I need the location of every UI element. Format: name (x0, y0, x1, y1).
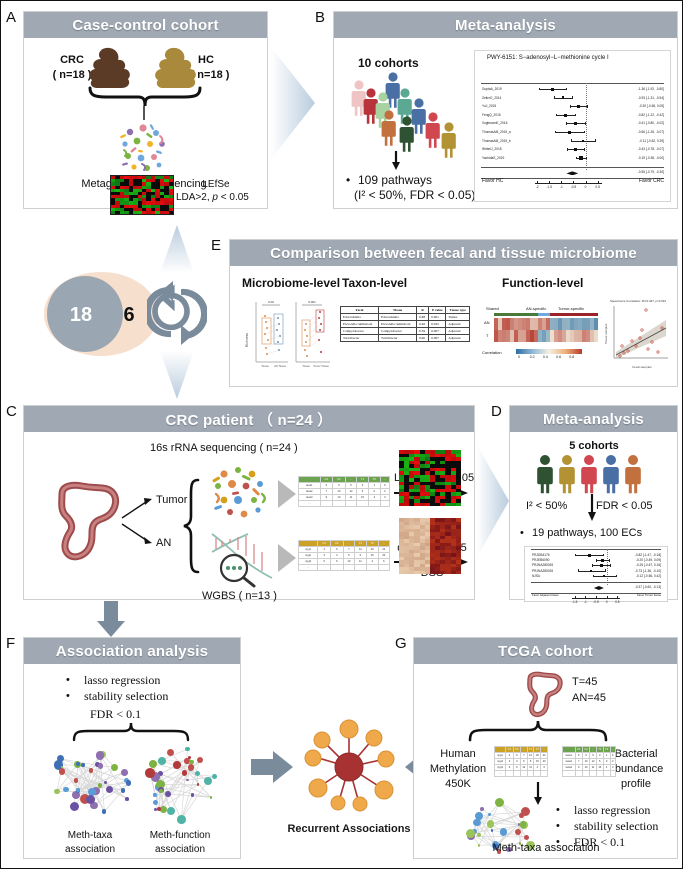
forest-study-label: PRJNA280026 (532, 569, 553, 573)
forest-tick (575, 596, 576, 598)
table-cell: Adjacent (446, 335, 470, 342)
forest-ci-label: -0.19 [-0.38, -0.00] (638, 156, 664, 160)
hm-row-label-t: T (486, 333, 488, 338)
forest-favor-left: Favor Adjacent tissue (532, 593, 559, 597)
forest-study-label: ThomasAM_2019_b (482, 139, 511, 143)
network-node (59, 768, 65, 774)
table-header: R (417, 307, 429, 314)
network-node (158, 757, 166, 765)
network-node (153, 800, 158, 805)
forest-ci-cap (570, 105, 571, 108)
table-row-empty: … (495, 771, 548, 777)
network-node (70, 802, 79, 811)
table-cell: Turicibacter (341, 335, 379, 342)
table-row: CampylobacterCampylobacter0.390.007Adjac… (341, 328, 470, 335)
network-node (125, 797, 129, 801)
forest-ci-cap (592, 564, 593, 567)
panel-c-title: CRC patient （ n=24 ） (24, 406, 474, 432)
forest-plot-b: PWY-6151: S−adenosyl−L−methionine cycle … (474, 50, 671, 202)
meth-function-network (138, 742, 224, 824)
wgbs-branch-label: WGBS ( n=13 ) (202, 590, 277, 602)
lefse-heatmap-c (399, 450, 461, 506)
function-heatmap (494, 318, 598, 342)
table-cell: Edwardsiella (379, 314, 417, 321)
chevron-down-center (158, 349, 196, 401)
net1-caption-2: association (65, 844, 115, 855)
hm-legend-gradient (516, 349, 582, 354)
forest-ci-cap (585, 122, 586, 125)
forest-point-estimate (579, 156, 583, 160)
function-heatmap-group: Shared AN-specific Tumor-specific AN T C… (482, 306, 600, 368)
stability-selection-g: stability selection (574, 819, 658, 834)
arrow-right-to-hub (251, 751, 293, 783)
panel-label-a: A (6, 9, 16, 26)
forest-ci-cap (575, 114, 576, 117)
table-header: Tissue (379, 307, 417, 314)
hm-legend-title: Correlation (482, 350, 502, 355)
table-cell (355, 565, 367, 571)
taxa-abundance-table: C1C2...T1T2...taxa1565316taxa271012502ta… (298, 476, 390, 507)
hm-bar-shared (494, 313, 538, 316)
tcga-caption: Meth-taxa association (493, 842, 600, 854)
table-cell: 0.007 (429, 328, 446, 335)
tcga-an-count: AN=45 (572, 692, 606, 704)
svg-text:AN Tissue: AN Tissue (274, 364, 286, 368)
table-cell: Tumor (446, 314, 470, 321)
panel-a-title: Case-control cohort (24, 12, 267, 38)
forest-ci-cap (576, 157, 577, 160)
table-cell (368, 501, 380, 507)
network-node (188, 764, 194, 770)
network-node (189, 760, 193, 764)
network-node (157, 807, 161, 811)
forest-zero-line (607, 549, 608, 585)
network-node (126, 780, 131, 785)
table-cell: … (299, 565, 318, 571)
hc-label: HC (198, 54, 214, 66)
table-cell (343, 565, 354, 571)
bacterial-profile-line1: Bacterial (615, 748, 658, 760)
table-cell: … (563, 771, 576, 777)
network-node (106, 786, 113, 793)
table-cell: Prevotella ruminicola (341, 321, 379, 328)
net1-caption-1: Meth-taxa (68, 830, 112, 841)
forest-tick-label: 0.5 (615, 600, 619, 604)
hm-legend-tick: 0.6 (556, 355, 561, 359)
colon-pointer-arrows (120, 488, 160, 554)
panel-a-body: CRC ( n=18 ) HC ( n=18 ) (24, 38, 267, 208)
forest-ci-cap (566, 88, 567, 91)
forest-ci-cap (575, 554, 576, 557)
forest-ci-label: -0.41 [-0.80, -0.02] (638, 121, 664, 125)
bullet-g-2: • (556, 820, 560, 832)
pathway-count-b: 109 pathways (358, 173, 432, 187)
table-cell: 0.60 (417, 335, 429, 342)
microbe-community-icon (208, 462, 274, 524)
forest-study-label: WirbelJ_2018 (482, 147, 502, 151)
network-node (98, 763, 103, 768)
cpg-methylation-table: C1C2...T1T2...cpg1467122022cpg233551520c… (298, 540, 390, 571)
forest-plot-d: PRJDB4176-0.82 [-1.47, -0.18]PRJEB6090-0… (524, 546, 668, 602)
svg-text:Tumor Tissue: Tumor Tissue (313, 364, 329, 368)
network-node (488, 813, 491, 816)
triangle-arrow-top (278, 480, 296, 508)
panel-label-f: F (6, 635, 15, 652)
forest-tick-label: -1.5 (546, 185, 552, 189)
table-cell (513, 771, 520, 777)
svg-text:Richness: Richness (245, 333, 249, 347)
table-cell (331, 565, 344, 571)
forest-rule (531, 582, 661, 583)
network-node (185, 747, 189, 751)
forest-tick-label: 0.5 (595, 185, 599, 189)
network-edges (48, 742, 134, 824)
an-label: AN (156, 537, 171, 549)
forest-tick-label: -1 (560, 185, 563, 189)
forest-ci-cap (616, 575, 617, 578)
forest-point-estimate (590, 570, 593, 573)
forest-study-label: ZellerG_2014 (482, 96, 501, 100)
cohort-count-b: 10 cohorts (358, 56, 419, 70)
forest-ci-cap (593, 575, 594, 578)
forest-ci-label: -0.82 [-1.22, -0.42] (638, 113, 664, 117)
table-row: Prevotella ruminicolaPrevotella ruminico… (341, 321, 470, 328)
table-cell (541, 771, 548, 777)
table-cell (610, 771, 615, 777)
bacterial-profile-line3: profile (621, 778, 651, 790)
forest-summary-diamond (566, 171, 578, 175)
function-scatter-plot: Spearman's Correlation: R²=0.467, p=0.03… (602, 294, 674, 374)
panel-b: Meta-analysis 10 cohorts (333, 11, 678, 209)
forest-tick (537, 181, 538, 183)
hm-legend-tick: 0.2 (530, 355, 535, 359)
triangle-arrow-bottom (278, 544, 296, 572)
hm-legend-tick: 0.8 (569, 355, 574, 359)
table-cell (366, 565, 378, 571)
panel-label-e: E (211, 237, 221, 254)
sub-microbiome-level: Microbiome-level (242, 276, 340, 290)
forest-study-label: FengQ_2015 (482, 113, 501, 117)
forest-ci-label: -0.93 [-1.31, -0.54] (638, 96, 664, 100)
table-cell: … (299, 501, 321, 507)
forest-point-estimate (601, 559, 605, 563)
forest-tick (549, 181, 550, 183)
scatter-ylabel: Tissue samples (604, 323, 608, 344)
forest-study-label: PRJDB4176 (532, 553, 550, 557)
microbiome-boxplots: Richness 0.02 Tissue AN Tissue (244, 296, 334, 374)
cycle-arrows-icon (147, 277, 207, 349)
table-cell (318, 565, 331, 571)
stability-selection-f: stability selection (84, 689, 168, 704)
hm-legend-tick: 0.4 (543, 355, 548, 359)
network-node (81, 763, 84, 766)
forest-summary-label: -0.55 [-0.79, -0.30] (638, 170, 664, 174)
table-cell (357, 501, 369, 507)
bullet-g-1: • (556, 804, 560, 816)
forest-ci-cap (571, 139, 572, 142)
arrow-down-icon-b (390, 151, 402, 171)
network-node (86, 795, 95, 804)
forest-ci-cap (610, 564, 611, 567)
crc-label: CRC (60, 54, 84, 66)
forest-point-estimate (577, 105, 580, 108)
forest-summary-label: -0.37 [-0.60, -0.13] (635, 585, 661, 589)
hm-bar-an (538, 313, 550, 316)
table-cell (506, 771, 513, 777)
table-cell: Adjacent (446, 328, 470, 335)
table-cell: 0.46 (417, 321, 429, 328)
forest-tick-label: -1.5 (572, 600, 578, 604)
network-node (524, 835, 529, 840)
colon-icon-g (522, 670, 566, 722)
table-cell: 0.043 (429, 321, 446, 328)
table-cell: Campylobacter (341, 328, 379, 335)
network-node (204, 777, 212, 785)
taxon-comparison-table: FecalTissueRP valueTissue typeEdwardsiel… (340, 306, 470, 342)
network-node (153, 793, 156, 796)
forest-axis (572, 598, 621, 599)
forest-tick-label: -0.5 (593, 600, 599, 604)
network-node (210, 796, 213, 799)
forest-ci-label: -0.20 [-0.49, 0.09] (636, 558, 661, 562)
panel-g: TCGA cohort T=45 AN=45 Human Methylation… (413, 637, 678, 859)
network-node (76, 788, 79, 791)
forest-tick-label: 0 (585, 185, 587, 189)
table-cell (380, 501, 389, 507)
network-node (212, 774, 217, 779)
network-node (182, 770, 187, 775)
forest-point-estimate (551, 88, 554, 91)
table-header: Tissue type (446, 307, 470, 314)
table-header: P value (429, 307, 446, 314)
human-methylation-line1: Human (440, 748, 475, 760)
table-row: EdwardsiellaEdwardsiella0.680.001Tumor (341, 314, 470, 321)
forest-tick-label: 0 (606, 600, 608, 604)
panel-e-body: Microbiome-level Taxon-level Function-le… (230, 266, 677, 386)
scatter-annotation: Spearman's Correlation: R²=0.467, p=0.03… (610, 299, 666, 303)
svg-text:0.001: 0.001 (308, 300, 316, 304)
arrow-down-c-to-f (97, 601, 125, 637)
merge-brace (86, 86, 204, 108)
hm-bar-tumor (550, 313, 598, 316)
scatter-xlabel: Fecal samples (632, 365, 652, 369)
table-cell (378, 565, 389, 571)
forest-study-label: VogtmannE_2016 (482, 121, 507, 125)
lefse-method-label: LEfSe (202, 179, 229, 190)
forest-ci-label: -0.43 [-0.78, -0.07] (638, 147, 664, 151)
network-node (121, 769, 128, 776)
hm-group-tumor: Tumor-specific (558, 306, 584, 311)
forest-rule (481, 178, 664, 179)
rrna-branch-label: 16s rRNA sequencing ( n=24 ) (150, 442, 298, 454)
forest-ci-label: -0.11 [-0.62, 0.39] (639, 139, 664, 143)
forest-rule (481, 167, 664, 168)
table-cell: Prevotella ruminicola (379, 321, 417, 328)
table-cell: Campylobacter (379, 328, 417, 335)
panel-b-title: Meta-analysis (334, 12, 677, 38)
network-node (519, 813, 523, 817)
forest-ci-cap (578, 569, 579, 572)
chevron-up-center (158, 223, 196, 275)
table-cell (345, 501, 356, 507)
panel-label-d: D (491, 403, 502, 420)
forest-ci-label: -0.66 [-1.26, -0.07] (638, 130, 664, 134)
forest-ci-cap (556, 114, 557, 117)
venn-outer-count: 6 (123, 304, 134, 326)
forest-tick (573, 181, 574, 183)
forest-ci-cap (584, 148, 585, 151)
forest-ci-cap (539, 88, 540, 91)
forest-rule (481, 83, 664, 84)
forest-ci-cap (587, 105, 588, 108)
cohort-people-icons (350, 72, 472, 158)
fdr-f: FDR < 0.1 (90, 707, 141, 722)
forest-favor-right: Favor CRC (639, 178, 664, 184)
colon-icon (48, 480, 126, 568)
table-row: TuricibacterTuricibacter0.600.007Adjacen… (341, 335, 470, 342)
arrow-down-icon-d (586, 494, 598, 522)
table-cell (534, 771, 541, 777)
forest-ci-label: -0.73 [-1.36, -0.10] (635, 569, 661, 573)
table-cell (590, 771, 597, 777)
forest-study-label: GuptaA_2019 (482, 87, 502, 91)
hm-legend-tick: 0 (518, 355, 520, 359)
cohort-people-icons-d (536, 454, 652, 494)
lasso-regression-g: lasso regression (574, 803, 650, 818)
net2-caption-2: association (155, 844, 205, 855)
hm-group-an: AN-specific (526, 306, 546, 311)
recurrent-associations-label: Recurrent Associations (287, 823, 410, 835)
panel-e: Comparison between fecal and tissue micr… (229, 239, 678, 387)
fdr-criteria-d: FDR < 0.05 (596, 500, 653, 512)
cohort-count-d: 5 cohorts (569, 440, 619, 452)
forest-ci-cap (567, 148, 568, 151)
forest-study-label: ThomasAM_2019_a (482, 130, 511, 134)
panel-f: Association analysis • lasso regression … (23, 637, 241, 859)
tcga-tumor-count: T=45 (572, 676, 597, 688)
forest-summary-diamond (594, 586, 604, 590)
forest-ci-cap (555, 131, 556, 134)
network-node (96, 751, 104, 759)
forest-point-estimate (564, 114, 567, 117)
pathway-count-d: 19 pathways, 100 ECs (532, 527, 642, 539)
panel-g-body: T=45 AN=45 Human Methylation 450K Bacter… (414, 664, 677, 858)
table-cell (582, 771, 589, 777)
human-methylation-line2: Methylation (430, 763, 486, 775)
crc-stool-icon (86, 46, 132, 90)
tcga-bacteria-table: C1C2...T1T2...taxa1565316taxa271012502ta… (562, 746, 616, 777)
hm-legend-ticks: 00.20.40.60.8 (516, 355, 582, 361)
forest-tick (598, 181, 599, 183)
table-cell (333, 501, 346, 507)
panel-c-body: Tumor AN 16s rRNA sequencing ( n=24 ) (24, 432, 474, 599)
table-cell: Edwardsiella (341, 314, 379, 321)
forest-ci-cap (605, 569, 606, 572)
network-node (177, 815, 186, 824)
network-node (145, 768, 155, 778)
table-header: Fecal (341, 307, 379, 314)
forest-ci-cap (554, 96, 555, 99)
network-node (473, 819, 480, 826)
table-row-empty: … (299, 565, 390, 571)
network-node (520, 821, 527, 828)
forest-ci-label: -0.30 [-0.65, 0.05] (639, 104, 664, 108)
forest-favor-left: Favor HC (482, 178, 503, 184)
forest-ci-label: -0.82 [-1.47, -0.18] (635, 553, 661, 557)
panel-d: Meta-analysis 5 cohorts I² < 50% FDR < 0… (509, 405, 678, 600)
table-row-empty: … (563, 771, 616, 777)
network-node (160, 806, 167, 813)
forest-tick (607, 596, 608, 598)
forest-ci-cap (595, 139, 596, 142)
hm-row-label-an: AN (484, 320, 490, 325)
forest-ci-label: -0.12 [-0.66, 0.42] (636, 574, 661, 578)
panel-d-body: 5 cohorts I² < 50% FDR < 0.05 • 19 pathw… (510, 432, 677, 599)
forest-ci-label: -1.36 [-1.92, -0.80] (638, 87, 664, 91)
forest-point-estimate (603, 575, 606, 578)
chevron-c-to-d (475, 441, 511, 561)
microbiome-cluster-icon (116, 120, 172, 176)
table-cell: Turicibacter (379, 335, 417, 342)
forest-axis (535, 183, 603, 184)
sub-function-level: Function-level (502, 276, 583, 290)
human-methylation-line3: 450K (445, 778, 471, 790)
forest-study-label: NJSU (532, 574, 540, 578)
forest-point-estimate (562, 96, 565, 99)
bullet-f-2: • (66, 690, 70, 702)
panel-c: CRC patient （ n=24 ） Tumor AN 16s rRNA s… (23, 405, 475, 600)
bacterial-profile-line2: abundance (609, 763, 663, 775)
table-cell: 0.68 (417, 314, 429, 321)
table-cell: 0.001 (429, 314, 446, 321)
lasso-regression-f: lasso regression (84, 673, 160, 688)
table-cell: 0.007 (429, 335, 446, 342)
lefse-threshold: LDA>2, p < 0.05 (176, 192, 249, 203)
network-node (63, 787, 68, 792)
panel-b-body: 10 cohorts (334, 38, 677, 208)
table-cell (603, 771, 610, 777)
forest-tick-label: -1 (584, 600, 587, 604)
forest-tick (561, 181, 562, 183)
panel-a: Case-control cohort CRC ( n=18 ) HC ( n=… (23, 11, 268, 209)
table-cell (320, 501, 333, 507)
svg-text:Tissue: Tissue (302, 364, 310, 368)
forest-tick (596, 596, 597, 598)
sub-taxon-level: Taxon-level (342, 276, 407, 290)
network-node (54, 789, 59, 794)
panel-label-b: B (315, 9, 325, 26)
hm-group-shared: Shared (486, 306, 499, 311)
forest-ci-cap (596, 559, 597, 562)
forest-favor-right: Favor Tumor tissue (637, 593, 661, 597)
forest-point-estimate (574, 148, 577, 151)
table-cell (575, 771, 582, 777)
table-cell: … (495, 771, 506, 777)
forest-tick-label: -0.5 (571, 185, 577, 189)
bullet-b: • (346, 173, 350, 187)
svg-text:Tissue: Tissue (261, 364, 269, 368)
panel-f-title: Association analysis (24, 638, 240, 664)
panel-d-title: Meta-analysis (510, 406, 677, 432)
panel-e-title: Comparison between fecal and tissue micr… (230, 240, 677, 266)
network-node (173, 761, 181, 769)
panel-label-c: C (6, 403, 17, 420)
forest-tick (585, 596, 586, 598)
split-brace-f (70, 722, 196, 742)
hc-stool-icon (152, 46, 198, 90)
table-cell: Adjacent (446, 321, 470, 328)
forest-study-label: YachidaS_2019 (482, 156, 504, 160)
